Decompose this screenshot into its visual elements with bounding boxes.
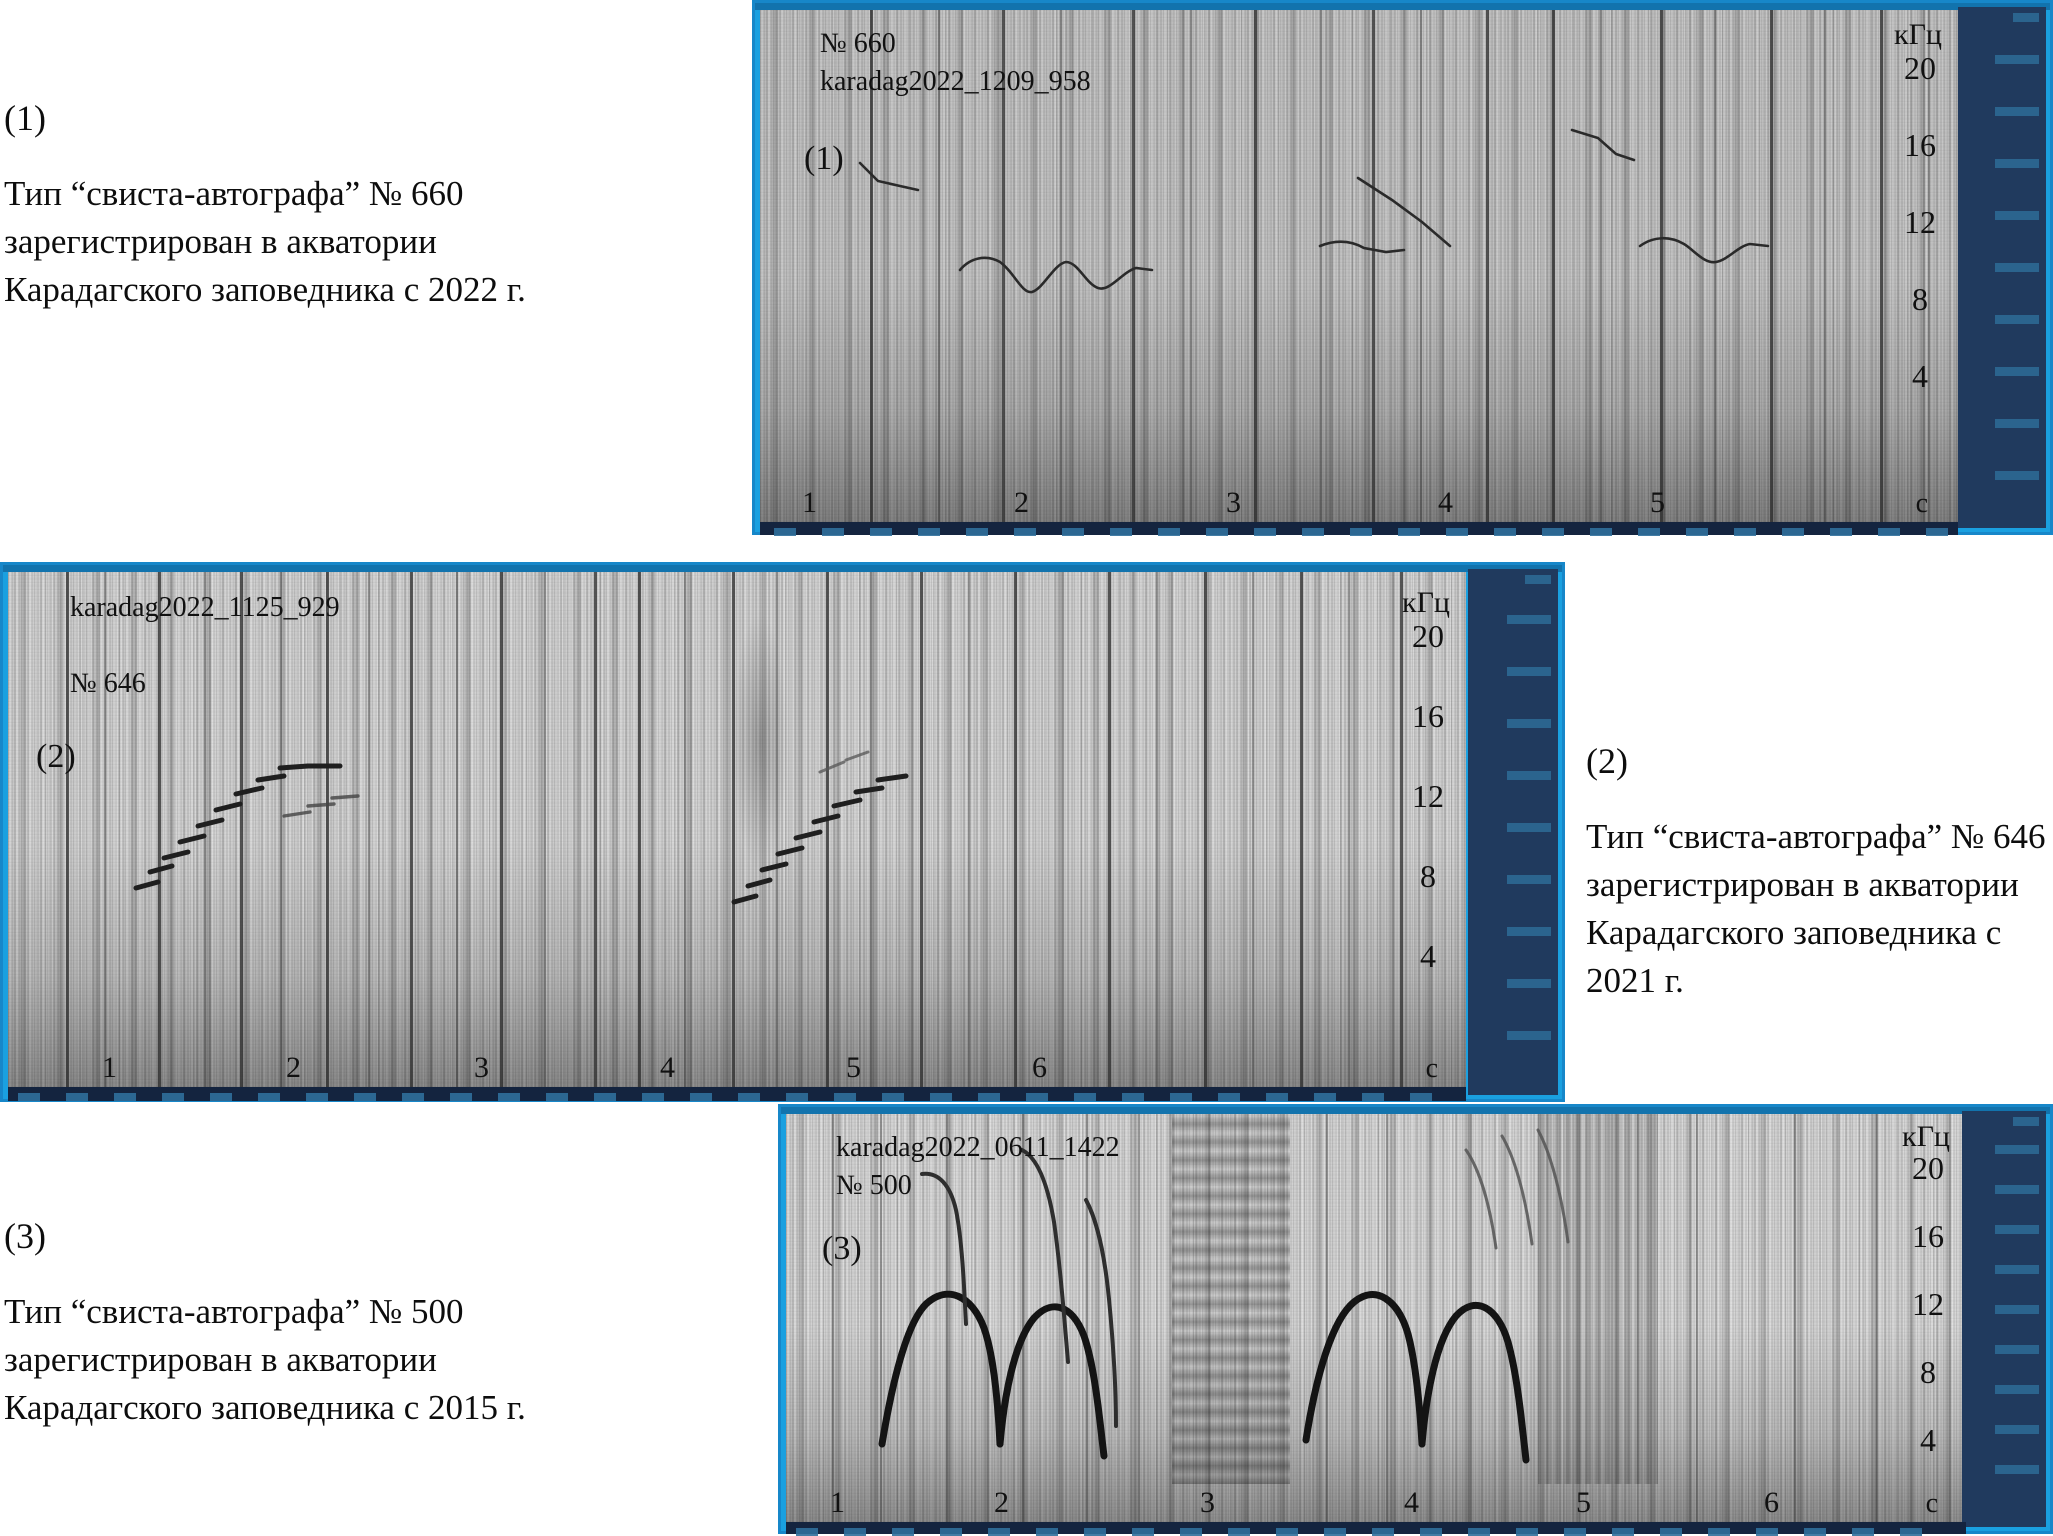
spectrogram-sidebar-2[interactable] xyxy=(1468,569,1558,1095)
panel-1-freq-tick-16: 16 xyxy=(1904,127,1936,164)
sidebar-readout xyxy=(1995,1265,2039,1274)
sidebar-readout xyxy=(1995,263,2039,272)
panel-2-freq-unit: кГц xyxy=(1402,586,1450,620)
panel-3-time-unit: с xyxy=(1926,1488,1938,1520)
sidebar-readout xyxy=(1995,419,2039,428)
click-streak xyxy=(1320,10,1322,522)
sidebar-readout xyxy=(1507,667,1551,676)
sidebar-readout xyxy=(1995,1465,2039,1474)
click-streak xyxy=(594,572,597,1087)
panel-3-time-tick-6: 6 xyxy=(1764,1486,1779,1520)
click-streak xyxy=(1252,572,1254,1087)
spectrogram-plot-3[interactable]: karadag2022_0611_1422 № 500 (3) кГц 20 1… xyxy=(786,1114,1966,1522)
click-streak xyxy=(1470,1114,1472,1522)
panel-1-file-name: karadag2022_1209_958 xyxy=(820,66,1091,98)
click-streak xyxy=(1132,10,1135,522)
caption-1: (1) Тип “свиста-автографа” № 660 зарегис… xyxy=(4,100,534,314)
panel-3-freq-tick-16: 16 xyxy=(1912,1218,1944,1255)
caption-3: (3) Тип “свиста-автографа” № 500 зарегис… xyxy=(4,1218,534,1432)
panel-2-time-tick-4: 4 xyxy=(660,1051,675,1085)
caption-2-text: Тип “свиста-автографа” № 646 зарегистрир… xyxy=(1586,813,2053,1005)
click-streak xyxy=(1204,572,1207,1087)
sidebar-readout xyxy=(1507,823,1551,832)
panel-2-time-tick-1: 1 xyxy=(102,1051,117,1085)
panel-1-freq-tick-20: 20 xyxy=(1904,50,1936,87)
panel-1-time-tick-4: 4 xyxy=(1438,486,1453,520)
spectrogram-window-2[interactable]: karadag2022_1125_929 № 646 (2) кГц 20 16… xyxy=(0,562,1565,1102)
click-streak xyxy=(240,572,243,1087)
click-streak xyxy=(1714,10,1716,522)
click-streak xyxy=(946,1114,948,1522)
click-streak xyxy=(1326,1114,1328,1522)
click-streak xyxy=(544,572,546,1087)
caption-3-text: Тип “свиста-автографа” № 500 зарегистрир… xyxy=(4,1288,534,1432)
panel-2-freq-tick-12: 12 xyxy=(1412,778,1444,815)
click-streak xyxy=(1880,10,1883,522)
click-streak xyxy=(1300,572,1303,1087)
panel-3-freq-tick-4: 4 xyxy=(1920,1422,1936,1459)
panel-3-time-tick-1: 1 xyxy=(830,1486,845,1520)
window-title-bar-2 xyxy=(3,565,1562,572)
spectrogram-window-3[interactable]: karadag2022_0611_1422 № 500 (3) кГц 20 1… xyxy=(778,1104,2053,1534)
sidebar-readout xyxy=(1995,159,2039,168)
click-streak xyxy=(66,572,69,1087)
panel-1-time-tick-2: 2 xyxy=(1014,486,1029,520)
caption-1-text: Тип “свиста-автографа” № 660 зарегистрир… xyxy=(4,170,534,314)
sidebar-readout xyxy=(1995,55,2039,64)
sidebar-readout xyxy=(1507,875,1551,884)
panel-3-freq-tick-20: 20 xyxy=(1912,1150,1944,1187)
panel-1-marker: (1) xyxy=(804,140,844,178)
spectrogram-window-1[interactable]: № 660 karadag2022_1209_958 (1) кГц 20 16… xyxy=(752,0,2053,535)
click-streak xyxy=(1386,1114,1388,1522)
click-streak xyxy=(1400,572,1403,1087)
sidebar-readout xyxy=(1507,979,1551,988)
click-streak xyxy=(410,572,413,1087)
panel-2-whistle-id: № 646 xyxy=(70,668,146,700)
sidebar-readout xyxy=(1995,1225,2039,1234)
click-streak xyxy=(1138,1114,1140,1522)
spectrogram-statusbar-2 xyxy=(8,1087,1466,1101)
sidebar-readout xyxy=(1995,211,2039,220)
sidebar-readout xyxy=(1507,615,1551,624)
click-streak xyxy=(1348,572,1350,1087)
click-streak xyxy=(1062,572,1064,1087)
sidebar-readout xyxy=(1995,1185,2039,1194)
sidebar-readout xyxy=(1995,1385,2039,1394)
click-streak xyxy=(1022,1114,1024,1522)
click-streak xyxy=(1770,10,1773,522)
window-title-bar-3 xyxy=(781,1107,2050,1114)
sidebar-readout xyxy=(1995,1145,2039,1154)
panel-1-freq-tick-4: 4 xyxy=(1912,358,1928,395)
sidebar-readout xyxy=(1507,1031,1551,1040)
spectrogram-sidebar-3[interactable] xyxy=(1962,1111,2046,1527)
click-streak xyxy=(368,572,370,1087)
click-streak xyxy=(920,572,923,1087)
panel-2-time-tick-6: 6 xyxy=(1032,1051,1047,1085)
click-streak xyxy=(1086,1114,1088,1522)
panel-2-time-tick-3: 3 xyxy=(474,1051,489,1085)
panel-3-freq-tick-12: 12 xyxy=(1912,1286,1944,1323)
click-streak xyxy=(1254,10,1257,522)
spectrogram-noise-3 xyxy=(786,1114,1966,1522)
panel-1-time-tick-5: 5 xyxy=(1650,486,1665,520)
sidebar-readout xyxy=(2013,1117,2039,1126)
spectrogram-statusbar-3 xyxy=(786,1522,1966,1534)
click-streak xyxy=(1372,10,1375,522)
panel-3-time-tick-3: 3 xyxy=(1200,1486,1215,1520)
click-streak xyxy=(1600,10,1602,522)
sidebar-readout xyxy=(1995,1345,2039,1354)
click-streak xyxy=(280,572,282,1087)
harmonic-noise-block xyxy=(1538,1114,1658,1484)
panel-2-time-tick-5: 5 xyxy=(846,1051,861,1085)
panel-2-time-tick-2: 2 xyxy=(286,1051,301,1085)
panel-2-freq-tick-4: 4 xyxy=(1420,938,1436,975)
panel-3-freq-tick-8: 8 xyxy=(1920,1354,1936,1391)
panel-2-freq-tick-8: 8 xyxy=(1420,858,1436,895)
click-streak xyxy=(326,572,329,1087)
click-streak xyxy=(104,572,106,1087)
click-streak xyxy=(204,572,206,1087)
caption-2-marker: (2) xyxy=(1586,743,2053,779)
click-streak xyxy=(968,572,970,1087)
click-streak xyxy=(832,1114,834,1522)
panel-3-marker: (3) xyxy=(822,1230,862,1268)
panel-2-file-name: karadag2022_1125_929 xyxy=(70,592,340,624)
sidebar-readout xyxy=(1995,471,2039,480)
caption-3-marker: (3) xyxy=(4,1218,534,1254)
caption-1-marker: (1) xyxy=(4,100,534,136)
panel-1-freq-tick-8: 8 xyxy=(1912,281,1928,318)
click-streak xyxy=(1696,1114,1698,1522)
sidebar-readout xyxy=(1995,1425,2039,1434)
sidebar-readout xyxy=(1995,1305,2039,1314)
panel-2-freq-tick-20: 20 xyxy=(1412,618,1444,655)
click-streak xyxy=(500,572,503,1087)
sidebar-readout xyxy=(1995,367,2039,376)
spectrogram-statusbar-1 xyxy=(760,522,1958,535)
panel-1-time-tick-1: 1 xyxy=(802,486,817,520)
spectrogram-plot-1[interactable]: № 660 karadag2022_1209_958 (1) кГц 20 16… xyxy=(760,10,1958,522)
click-streak xyxy=(1420,10,1422,522)
panel-3-time-tick-4: 4 xyxy=(1404,1486,1419,1520)
click-streak xyxy=(684,572,686,1087)
banded-noise-block xyxy=(1172,1114,1290,1484)
click-streak xyxy=(1660,10,1663,522)
panel-2-freq-tick-16: 16 xyxy=(1412,698,1444,735)
click-streak xyxy=(1552,10,1555,522)
sidebar-readout xyxy=(1525,575,1551,584)
panel-3-file-name: karadag2022_0611_1422 xyxy=(836,1132,1120,1164)
panel-2-time-unit: с xyxy=(1426,1053,1438,1085)
panel-3-time-tick-5: 5 xyxy=(1576,1486,1591,1520)
sidebar-readout xyxy=(1995,315,2039,324)
panel-1-time-unit: с xyxy=(1916,488,1928,520)
click-streak xyxy=(1794,1114,1796,1522)
panel-1-freq-unit: кГц xyxy=(1894,18,1942,52)
click-streak xyxy=(158,572,161,1087)
sidebar-readout xyxy=(1995,107,2039,116)
sidebar-readout xyxy=(1507,927,1551,936)
click-streak xyxy=(1486,10,1489,522)
click-streak xyxy=(456,572,458,1087)
broadband-blob xyxy=(732,612,788,872)
panel-3-time-tick-2: 2 xyxy=(994,1486,1009,1520)
caption-2: (2) Тип “свиста-автографа” № 646 зарегис… xyxy=(1586,743,2053,1005)
panel-3-whistle-id: № 500 xyxy=(836,1170,912,1202)
sidebar-readout xyxy=(2013,13,2039,22)
click-streak xyxy=(1824,10,1826,522)
click-streak xyxy=(870,572,872,1087)
panel-1-freq-tick-12: 12 xyxy=(1904,204,1936,241)
panel-1-whistle-id: № 660 xyxy=(820,28,896,60)
click-streak xyxy=(1876,1114,1878,1522)
click-streak xyxy=(1014,572,1017,1087)
window-title-bar-1 xyxy=(755,3,2050,10)
spectrogram-sidebar-1[interactable] xyxy=(1958,7,2046,528)
click-streak xyxy=(1108,572,1111,1087)
sidebar-readout xyxy=(1507,771,1551,780)
click-streak xyxy=(1156,572,1158,1087)
panel-3-freq-unit: кГц xyxy=(1902,1120,1950,1154)
click-streak xyxy=(1190,10,1192,522)
click-streak xyxy=(638,572,641,1087)
panel-2-marker: (2) xyxy=(36,738,76,776)
panel-1-time-tick-3: 3 xyxy=(1226,486,1241,520)
spectrogram-plot-2[interactable]: karadag2022_1125_929 № 646 (2) кГц 20 16… xyxy=(8,572,1466,1087)
click-streak xyxy=(826,572,829,1087)
sidebar-readout xyxy=(1507,719,1551,728)
